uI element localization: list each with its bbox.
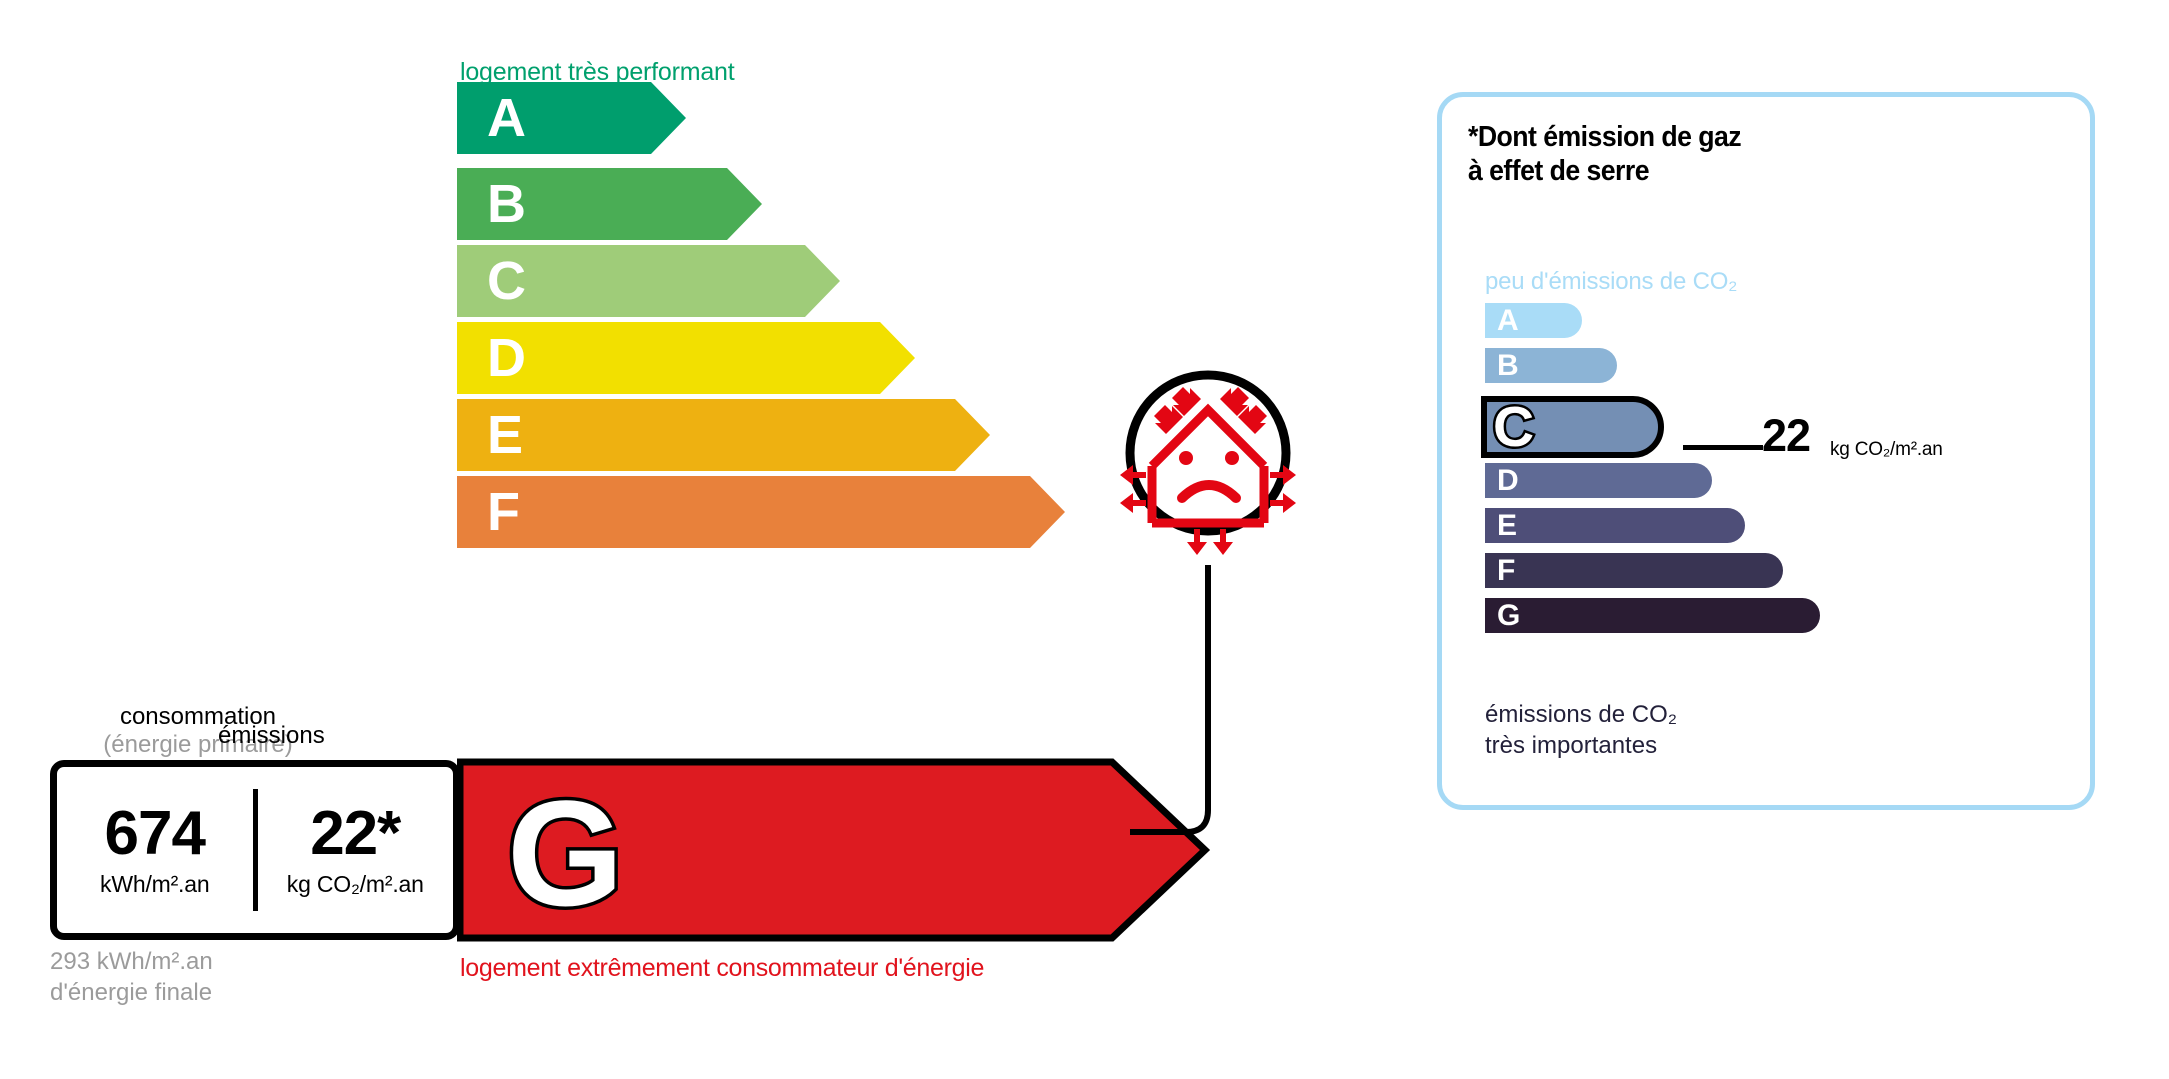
- consumption-unit: kWh/m².an: [100, 871, 209, 898]
- co2-bar-e-letter: E: [1497, 511, 1517, 541]
- energy-bar-a: A: [457, 82, 697, 154]
- energy-bar-e: E: [457, 399, 1007, 471]
- energy-bar-a-letter: A: [487, 91, 526, 145]
- energy-bar-b: B: [457, 168, 777, 240]
- final-energy-footnote: 293 kWh/m².an d'énergie finale: [50, 947, 213, 1008]
- energy-bar-b-letter: B: [487, 177, 526, 231]
- energy-bar-b-shape: B: [457, 168, 762, 240]
- co2-bar-d-letter: D: [1497, 466, 1519, 496]
- co2-bar-a: A: [1485, 303, 1582, 338]
- energy-bar-c: C: [457, 245, 857, 317]
- co2-bar-g: G: [1485, 598, 1820, 633]
- co2-bar-d: D: [1485, 463, 1712, 498]
- co2-bar-b-shape: B: [1485, 348, 1617, 383]
- co2-bar-b-letter: B: [1497, 351, 1519, 381]
- energy-bar-c-letter: C: [487, 254, 526, 308]
- co2-scale-bottom-label-line1: émissions de CO₂: [1485, 700, 1677, 731]
- co2-scale-bottom-label-line2: très importantes: [1485, 731, 1677, 762]
- emissions-unit: kg CO₂/m².an: [287, 871, 424, 898]
- energy-bar-g-letter: G: [507, 769, 624, 937]
- value-box: 674 kWh/m².an 22* kg CO₂/m².an: [50, 760, 460, 940]
- energy-bar-a-shape: A: [457, 82, 686, 154]
- co2-bar-d-shape: D: [1485, 463, 1712, 498]
- emissions-cell: 22* kg CO₂/m².an: [258, 767, 454, 933]
- co2-bar-f-letter: F: [1497, 556, 1515, 586]
- co2-bar-f: F: [1485, 553, 1783, 588]
- energy-bar-d: D: [457, 322, 932, 394]
- consumption-value: 674: [105, 803, 205, 865]
- emissions-value: 22*: [310, 803, 400, 865]
- co2-value-leader-line: [1683, 445, 1763, 450]
- co2-bar-c-letter: C: [1493, 396, 1534, 458]
- co2-value: 22: [1762, 410, 1810, 462]
- co2-bar-c-selected: C: [1481, 396, 1671, 458]
- energy-bar-f-letter: F: [487, 485, 520, 539]
- energy-scale-bottom-label: logement extrêmement consommateur d'éner…: [460, 954, 984, 983]
- sad-house-energy-loss-icon: [1090, 340, 1330, 860]
- energy-bar-d-letter: D: [487, 331, 526, 385]
- final-energy-footnote-line2: d'énergie finale: [50, 978, 213, 1009]
- consumption-cell: 674 kWh/m².an: [57, 767, 253, 933]
- energy-bar-d-shape: D: [457, 322, 915, 394]
- energy-bar-e-shape: E: [457, 399, 990, 471]
- co2-scale-bottom-label: émissions de CO₂ très importantes: [1485, 700, 1677, 761]
- sad-house-icon-group: [1090, 340, 1330, 860]
- co2-bar-g-letter: G: [1497, 601, 1520, 631]
- co2-panel-title: *Dont émission de gaz à effet de serre: [1468, 120, 1741, 188]
- emissions-label: émissions: [218, 722, 325, 750]
- co2-bar-e: E: [1485, 508, 1745, 543]
- co2-bar-e-shape: E: [1485, 508, 1745, 543]
- co2-bar-b: B: [1485, 348, 1617, 383]
- co2-bar-a-shape: A: [1485, 303, 1582, 338]
- energy-bar-f: F: [457, 476, 1082, 548]
- final-energy-footnote-line1: 293 kWh/m².an: [50, 947, 213, 978]
- energy-bar-f-shape: F: [457, 476, 1065, 548]
- co2-panel-title-line1: *Dont émission de gaz: [1468, 120, 1741, 154]
- co2-value-unit: kg CO₂/m².an: [1830, 439, 1943, 461]
- co2-bar-c-svg: C: [1481, 396, 1671, 458]
- co2-bar-f-shape: F: [1485, 553, 1783, 588]
- co2-bar-g-shape: G: [1485, 598, 1820, 633]
- energy-bar-c-shape: C: [457, 245, 840, 317]
- energy-bar-e-letter: E: [487, 408, 523, 462]
- co2-bar-a-letter: A: [1497, 306, 1519, 336]
- co2-scale-top-label: peu d'émissions de CO₂: [1485, 268, 1737, 296]
- co2-panel-title-line2: à effet de serre: [1468, 154, 1741, 188]
